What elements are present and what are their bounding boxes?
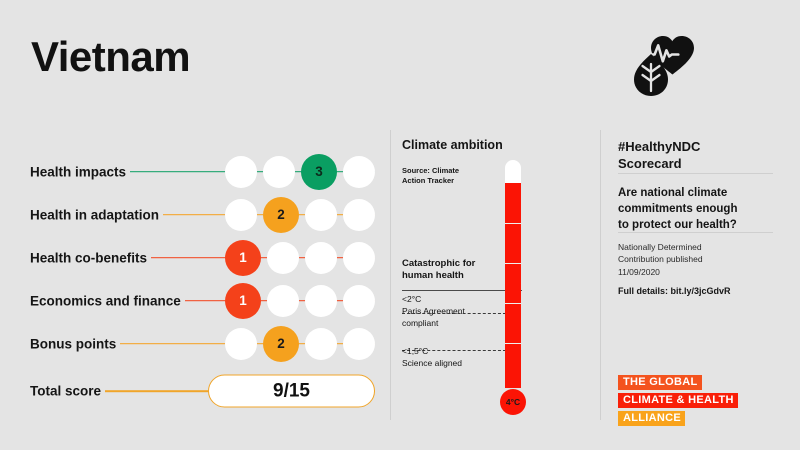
- total-score-row: Total score9/15: [30, 369, 375, 413]
- score-dot-empty: [225, 328, 257, 360]
- infographic-root: Vietnam Health impacts3Health in adaptat…: [0, 0, 800, 450]
- score-dot-empty: [225, 156, 257, 188]
- thermometer-reading: 4°C: [500, 389, 526, 415]
- score-dot-empty: [263, 156, 295, 188]
- score-dot-empty: [267, 242, 299, 274]
- scorecard-row: Health in adaptation2: [30, 193, 375, 236]
- thermometer-tube: [505, 160, 521, 388]
- score-dot-empty: [305, 199, 337, 231]
- score-dot-empty: [343, 285, 375, 317]
- catastrophic-label: Catastrophic forhuman health: [402, 258, 498, 283]
- score-dots: 1: [225, 283, 375, 319]
- gcha-line-2: CLIMATE & HEALTH: [618, 393, 738, 408]
- ndc-publication-note: Nationally DeterminedContribution publis…: [618, 241, 778, 278]
- gcha-line-3: ALLIANCE: [618, 411, 685, 426]
- scorecard-row: Economics and finance1: [30, 279, 375, 322]
- climate-ambition-panel: Climate ambition Source: ClimateAction T…: [402, 138, 537, 152]
- row-label: Economics and finance: [30, 293, 185, 308]
- score-dot-filled: 1: [225, 283, 261, 319]
- scorecard-row: Health impacts3: [30, 150, 375, 193]
- gcha-logo: THE GLOBAL CLIMATE & HEALTH ALLIANCE: [618, 372, 768, 426]
- total-score-label: Total score: [30, 384, 105, 399]
- score-dots: 2: [225, 197, 375, 233]
- scorecard-row: Health co-benefits1: [30, 236, 375, 279]
- score-dot-filled: 2: [263, 326, 299, 362]
- climate-ambition-title: Climate ambition: [402, 138, 537, 152]
- thermometer: 4°C: [500, 160, 526, 415]
- divider-left: [390, 130, 391, 420]
- brand-title: #HealthyNDCScorecard: [618, 138, 700, 172]
- row-label: Health in adaptation: [30, 207, 163, 222]
- score-dot-empty: [305, 285, 337, 317]
- page-title: Vietnam: [31, 36, 190, 78]
- score-dot-filled: 1: [225, 240, 261, 276]
- row-label: Bonus points: [30, 336, 120, 351]
- score-dots: 3: [225, 154, 375, 190]
- score-dot-empty: [267, 285, 299, 317]
- full-details-link[interactable]: Full details: bit.ly/3jcGdvR: [618, 286, 731, 296]
- brand-question: Are national climatecommitments enoughto…: [618, 185, 778, 233]
- score-dots: 1: [225, 240, 375, 276]
- brand-divider-2: [618, 232, 773, 233]
- thermometer-fill: [505, 183, 521, 388]
- score-dots: 2: [225, 326, 375, 362]
- thermometer-tick: [505, 263, 521, 265]
- brand-divider-1: [618, 173, 773, 174]
- scorecard-row: Bonus points2: [30, 322, 375, 365]
- thermometer-tick: [505, 303, 521, 305]
- divider-right: [600, 130, 601, 420]
- thermometer-tick: [505, 343, 521, 345]
- score-dot-empty: [343, 242, 375, 274]
- row-label: Health co-benefits: [30, 250, 151, 265]
- total-score-value: 9/15: [208, 375, 375, 408]
- score-dot-filled: 2: [263, 197, 299, 233]
- climate-source-note: Source: ClimateAction Tracker: [402, 166, 459, 186]
- score-dot-empty: [305, 328, 337, 360]
- score-dot-empty: [305, 242, 337, 274]
- score-dot-empty: [225, 199, 257, 231]
- heart-ecg-leaf-icon: [627, 28, 697, 100]
- gcha-line-1: THE GLOBAL: [618, 375, 702, 390]
- row-label: Health impacts: [30, 164, 130, 179]
- score-dot-empty: [343, 328, 375, 360]
- score-dot-empty: [343, 156, 375, 188]
- score-dot-filled: 3: [301, 154, 337, 190]
- science-threshold-label: <1,5°CScience aligned: [402, 346, 507, 370]
- scorecard-panel: Health impacts3Health in adaptation2Heal…: [30, 150, 375, 413]
- score-dot-empty: [343, 199, 375, 231]
- thermometer-tick: [505, 223, 521, 225]
